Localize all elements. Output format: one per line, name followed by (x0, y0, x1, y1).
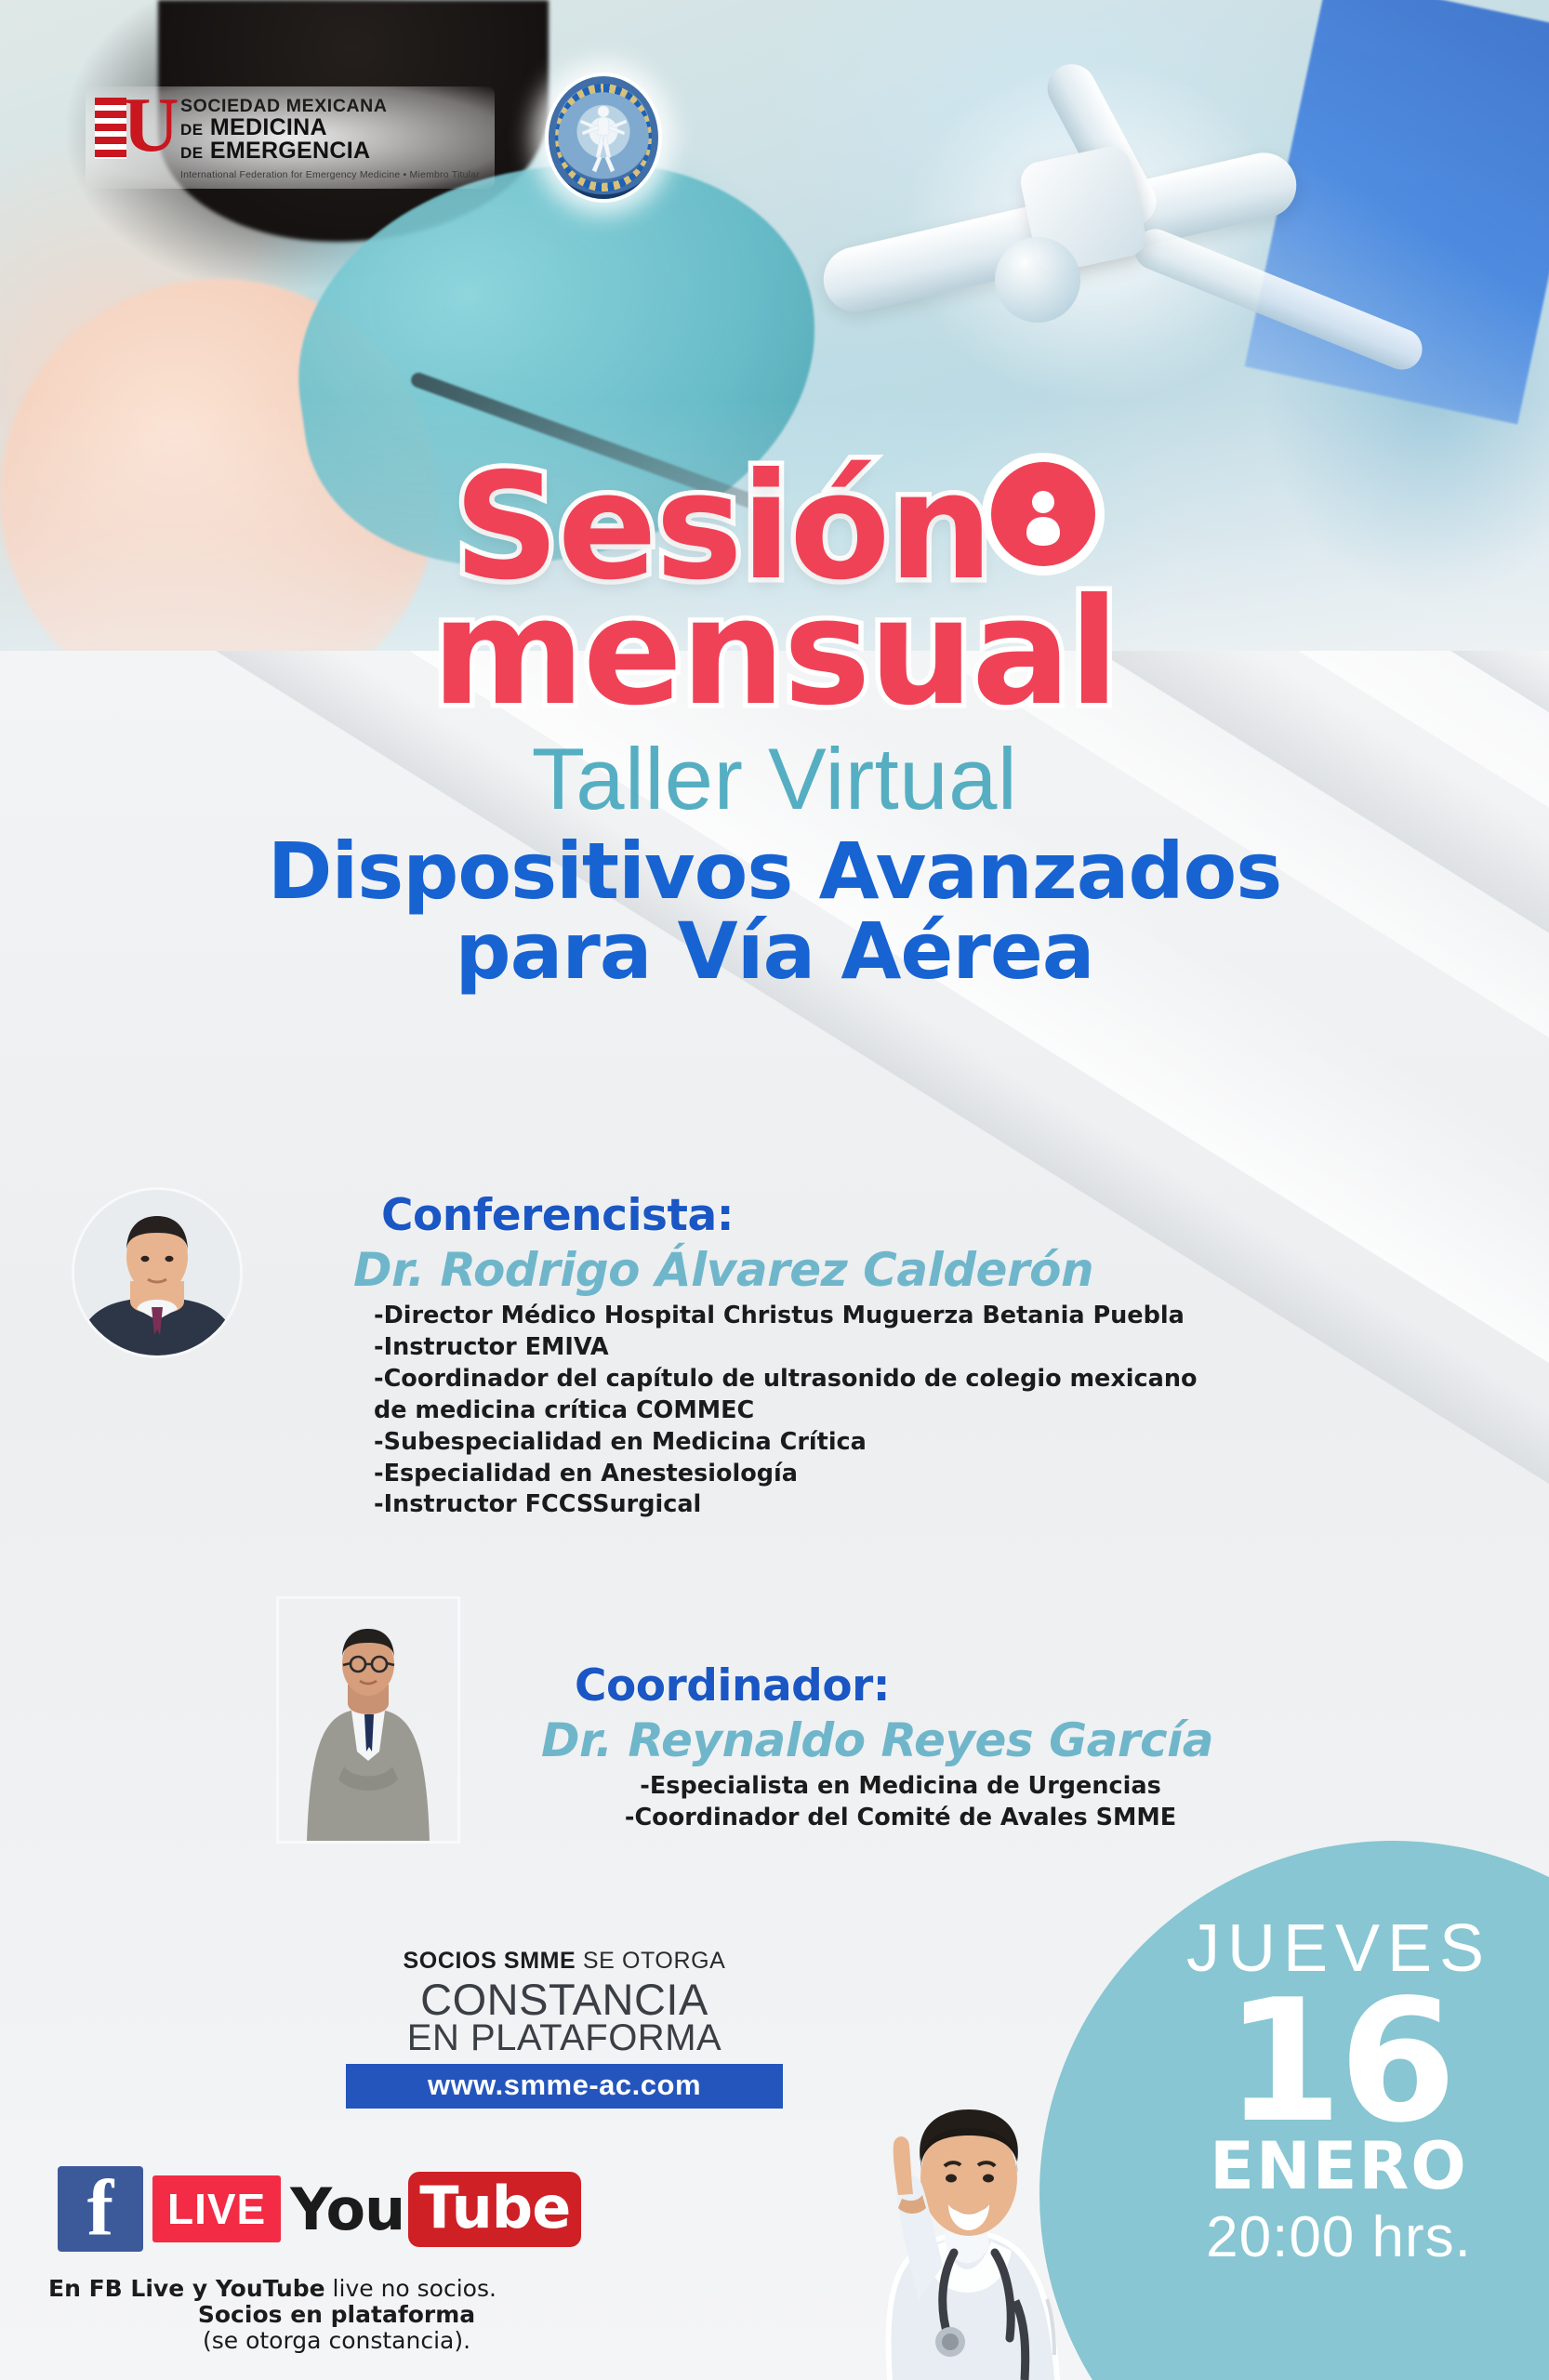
coordinator-name: Dr. Reynaldo Reyes García (541, 1713, 1213, 1767)
certificate-members-rest: SE OTORGA (583, 1948, 726, 1974)
doctor-cutout-image (772, 2022, 1106, 2380)
smme-letter-u: U (123, 94, 167, 159)
website-url[interactable]: www.smme-ac.com (346, 2064, 783, 2109)
org-tagline: International Federation for Emergency M… (180, 170, 480, 180)
podcast-broadcast-icon (991, 462, 1095, 566)
broadcast-note: En FB Live y YouTube live no socios. Soc… (48, 2276, 625, 2354)
credential-item: -Coordinador del Comité de Avales SMME (588, 1803, 1213, 1834)
event-month: ENERO (1144, 2134, 1534, 2199)
headline-subtitle: Taller Virtual (0, 735, 1549, 823)
vitruvian-figure-icon (577, 101, 629, 174)
credential-item: -Especialidad en Anestesiología (374, 1459, 1198, 1490)
smme-u-mark-icon: U (95, 94, 167, 166)
credential-item: -Instructor EMIVA (374, 1332, 1198, 1364)
live-badge: LIVE (152, 2175, 281, 2242)
event-time: 20:00 hrs. (1144, 2204, 1534, 2270)
coordinator-photo (279, 1599, 457, 1841)
logo-row: U SOCIEDAD MEXICANA DE MEDICINA DE EMERG… (86, 76, 658, 199)
coordinator-portrait-icon (279, 1599, 457, 1841)
credential-item: -Especialista en Medicina de Urgencias (588, 1771, 1213, 1803)
credential-item: -Subespecialidad en Medicina Crítica (374, 1427, 1198, 1459)
vitruvian-seal-icon (549, 76, 658, 199)
headline-mensual: mensual (0, 579, 1549, 726)
org-line-2: DE MEDICINA (180, 116, 480, 140)
event-date-block: JUEVES 16 ENERO 20:00 hrs. (1144, 1915, 1534, 2270)
social-row: f LIVE You Tube (58, 2166, 581, 2252)
certificate-members-bold: SOCIOS SMME (404, 1948, 576, 1974)
credential-item: -Director Médico Hospital Christus Mugue… (374, 1301, 1198, 1332)
credential-item: de medicina crítica COMMEC (374, 1395, 1198, 1427)
certificate-headline: CONSTANCIA EN PLATAFORMA (346, 1978, 783, 2056)
certificate-block: SOCIOS SMME SE OTORGA CONSTANCIA EN PLAT… (346, 1948, 783, 2109)
facebook-f-glyph: f (87, 2167, 114, 2247)
speaker-portrait-icon (74, 1190, 240, 1355)
event-day: 16 (1144, 1984, 1534, 2139)
broadcast-note-line1: En FB Live y YouTube live no socios. (48, 2276, 625, 2302)
youtube-logo[interactable]: You Tube (290, 2172, 581, 2247)
speaker-photo (74, 1190, 240, 1355)
speaker-role-label: Conferencista: (381, 1190, 1198, 1241)
certificate-members-line: SOCIOS SMME SE OTORGA (346, 1948, 783, 1975)
facebook-icon[interactable]: f (58, 2166, 143, 2252)
certificate-line-1: CONSTANCIA (346, 1978, 783, 2020)
smme-logo: U SOCIEDAD MEXICANA DE MEDICINA DE EMERG… (86, 86, 495, 190)
youtube-you-text: You (290, 2175, 404, 2243)
credential-item: -Coordinador del capítulo de ultrasonido… (374, 1364, 1198, 1395)
coordinator-credentials: -Especialista en Medicina de Urgencias -… (588, 1771, 1213, 1834)
credential-item: -Instructor FCCSSurgical (374, 1489, 1198, 1521)
headline-title-line2: para Vía Aérea (0, 912, 1549, 992)
broadcast-note-line3: (se otorga constancia). (48, 2328, 625, 2354)
headline-title-line1: Dispositivos Avanzados (0, 832, 1549, 912)
certificate-line-2: EN PLATAFORMA (346, 2020, 783, 2056)
headline-block: Sesión mensual Taller Virtual Dispositiv… (0, 456, 1549, 991)
headline-title: Dispositivos Avanzados para Vía Aérea (0, 832, 1549, 991)
coordinator-block: Coordinador: Dr. Reynaldo Reyes García -… (279, 1599, 1506, 1841)
youtube-tube-box: Tube (408, 2172, 581, 2247)
photo-valve (995, 237, 1080, 323)
speaker-credentials: -Director Médico Hospital Christus Mugue… (374, 1301, 1198, 1521)
event-poster: U SOCIEDAD MEXICANA DE MEDICINA DE EMERG… (0, 0, 1549, 2380)
org-line-3: DE EMERGENCIA (180, 139, 480, 164)
coordinator-role-label: Coordinador: (575, 1660, 1213, 1712)
speaker-block: Conferencista: Dr. Rodrigo Álvarez Calde… (74, 1190, 1488, 1355)
broadcast-note-line2: Socios en plataforma (48, 2302, 625, 2328)
youtube-tube-text: Tube (419, 2174, 570, 2241)
speaker-name: Dr. Rodrigo Álvarez Calderón (353, 1243, 1198, 1297)
